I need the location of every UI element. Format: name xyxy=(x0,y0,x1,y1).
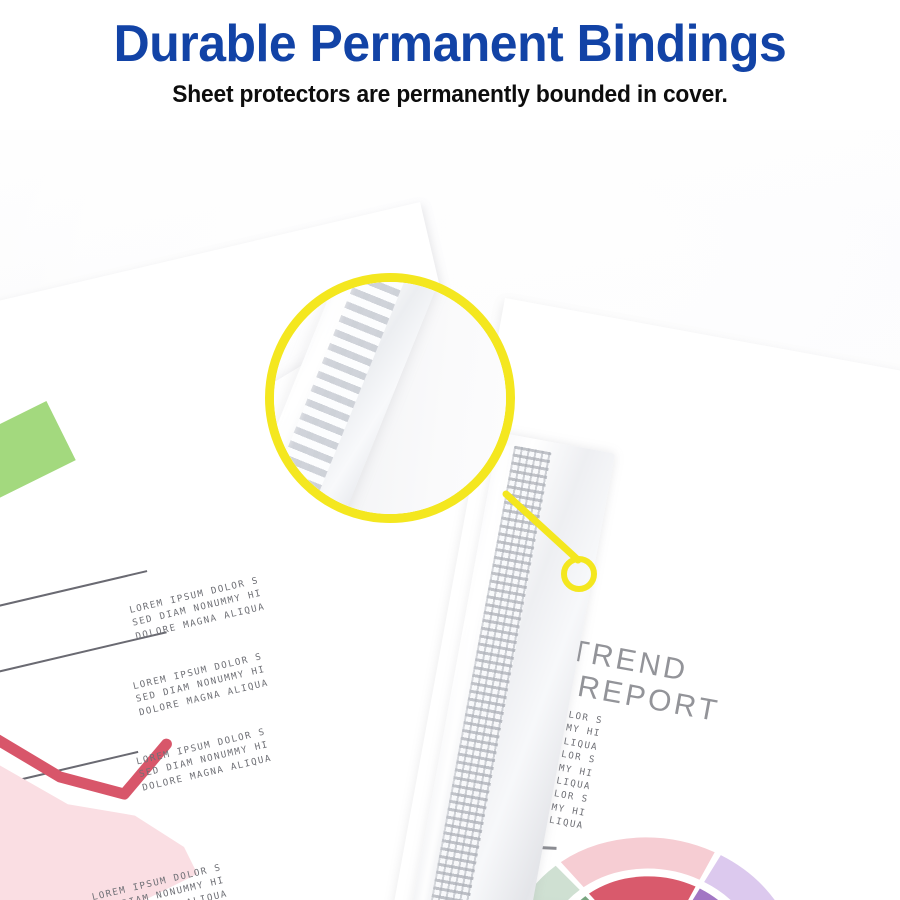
product-feature-image: Durable Permanent Bindings Sheet protect… xyxy=(0,0,900,900)
binding-spine-magnifier xyxy=(265,273,515,523)
lorem-block-2: LOREM IPSUM DOLOR S SED DIAM NONUMMY HI … xyxy=(132,650,270,719)
product-photo: lorem ipsum max LOREM IPSUM DOLOR S SED … xyxy=(0,118,900,900)
lorem-block-1: LOREM IPSUM DOLOR S SED DIAM NONUMMY HI … xyxy=(128,574,266,643)
binding-spine-target-ring xyxy=(561,556,597,592)
chart-area-fill xyxy=(0,693,197,900)
page-subtitle: Sheet protectors are permanently bounded… xyxy=(32,72,869,109)
magnifier-content xyxy=(274,282,506,514)
header: Durable Permanent Bindings Sheet protect… xyxy=(0,0,900,130)
page-title: Durable Permanent Bindings xyxy=(18,0,882,72)
